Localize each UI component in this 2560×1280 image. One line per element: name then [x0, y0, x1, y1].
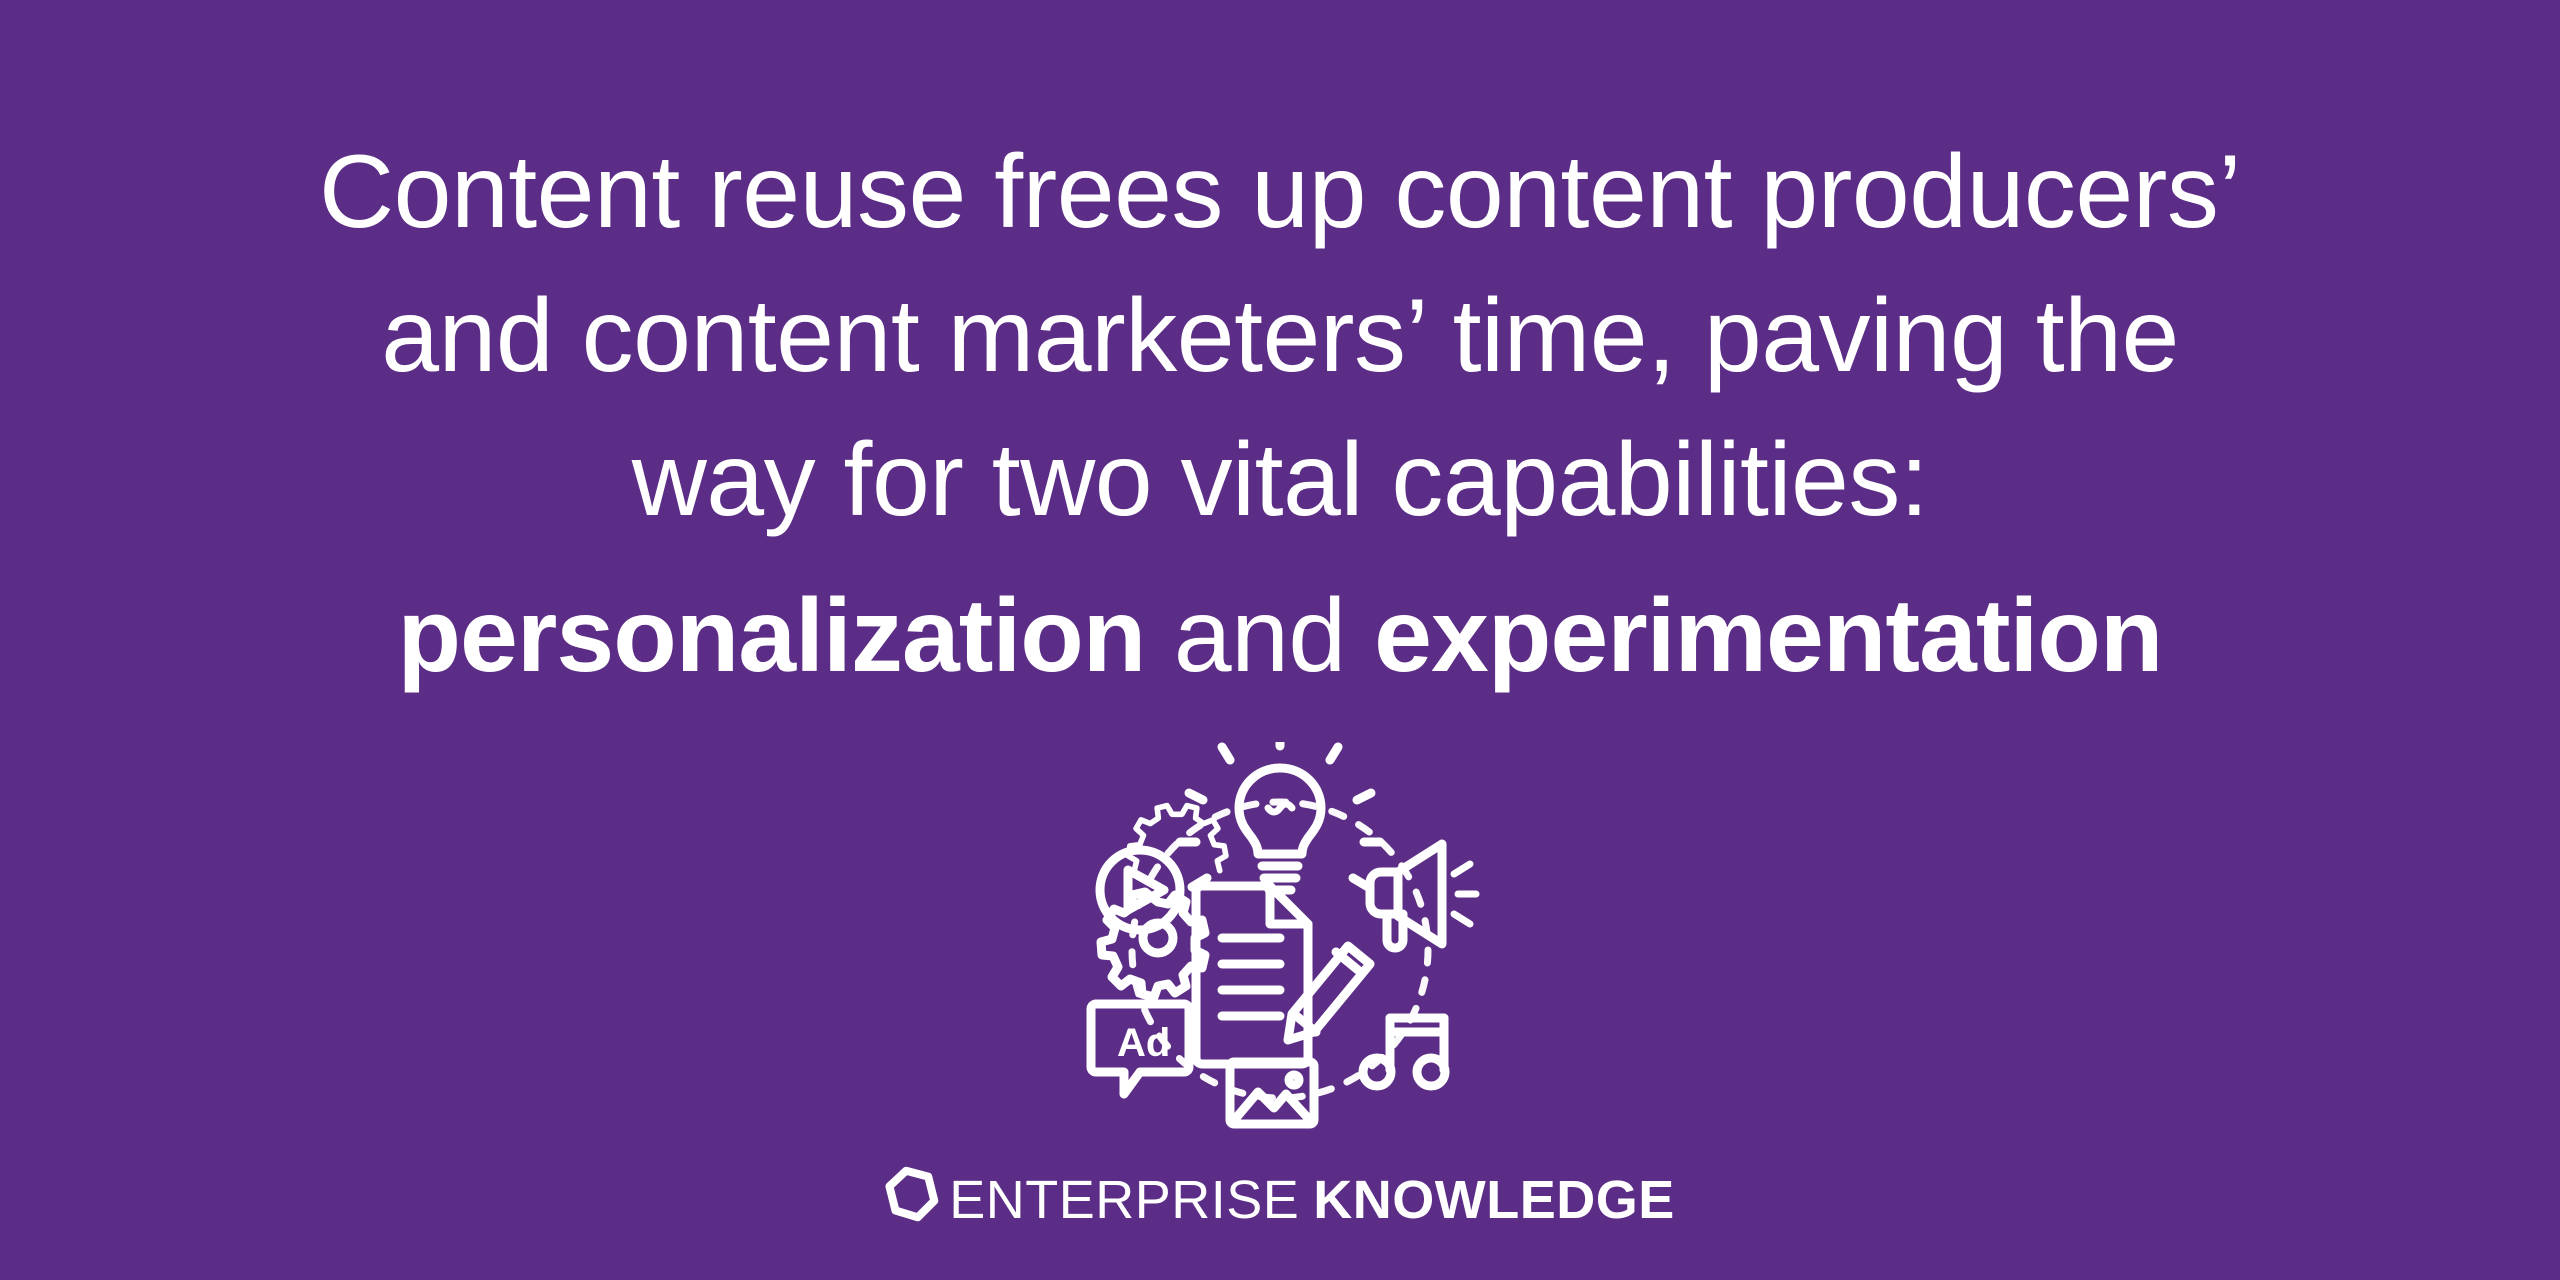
brand-wordmark: ENTERPRISEKNOWLEDGE	[949, 1173, 1675, 1227]
headline-emphasis-line: personalization and experimentation	[140, 564, 2420, 708]
brand-word-enterprise: ENTERPRISE	[949, 1170, 1299, 1230]
lightbulb-icon	[1180, 742, 1380, 890]
ad-speech-bubble-icon: Ad	[1091, 1004, 1189, 1094]
emphasis-term-personalization: personalization	[398, 578, 1146, 694]
ad-label: Ad	[1117, 1021, 1170, 1065]
gear-icon	[1101, 806, 1226, 997]
document-pencil-icon	[1196, 886, 1370, 1064]
brand-logo-lockup: ENTERPRISEKNOWLEDGE	[885, 1166, 1675, 1234]
emphasis-conjunction: and	[1145, 578, 1374, 694]
headline-line-3: way for two vital capabilities:	[140, 408, 2420, 552]
music-note-icon	[1363, 1018, 1445, 1086]
brand-word-knowledge: KNOWLEDGE	[1313, 1170, 1675, 1230]
headline-block: Content reuse frees up content producers…	[140, 120, 2420, 708]
content-creation-ecosystem-icon: Ad	[1070, 742, 1490, 1142]
headline-line-1: Content reuse frees up content producers…	[140, 120, 2420, 264]
megaphone-icon	[1370, 844, 1476, 948]
emphasis-term-experimentation: experimentation	[1374, 578, 2162, 694]
slide-canvas: Content reuse frees up content producers…	[0, 0, 2560, 1280]
dashed-circle-connector	[1132, 802, 1428, 1098]
headline-line-2: and content marketers’ time, paving the	[140, 264, 2420, 408]
hexagon-outline-mark	[885, 1166, 939, 1224]
